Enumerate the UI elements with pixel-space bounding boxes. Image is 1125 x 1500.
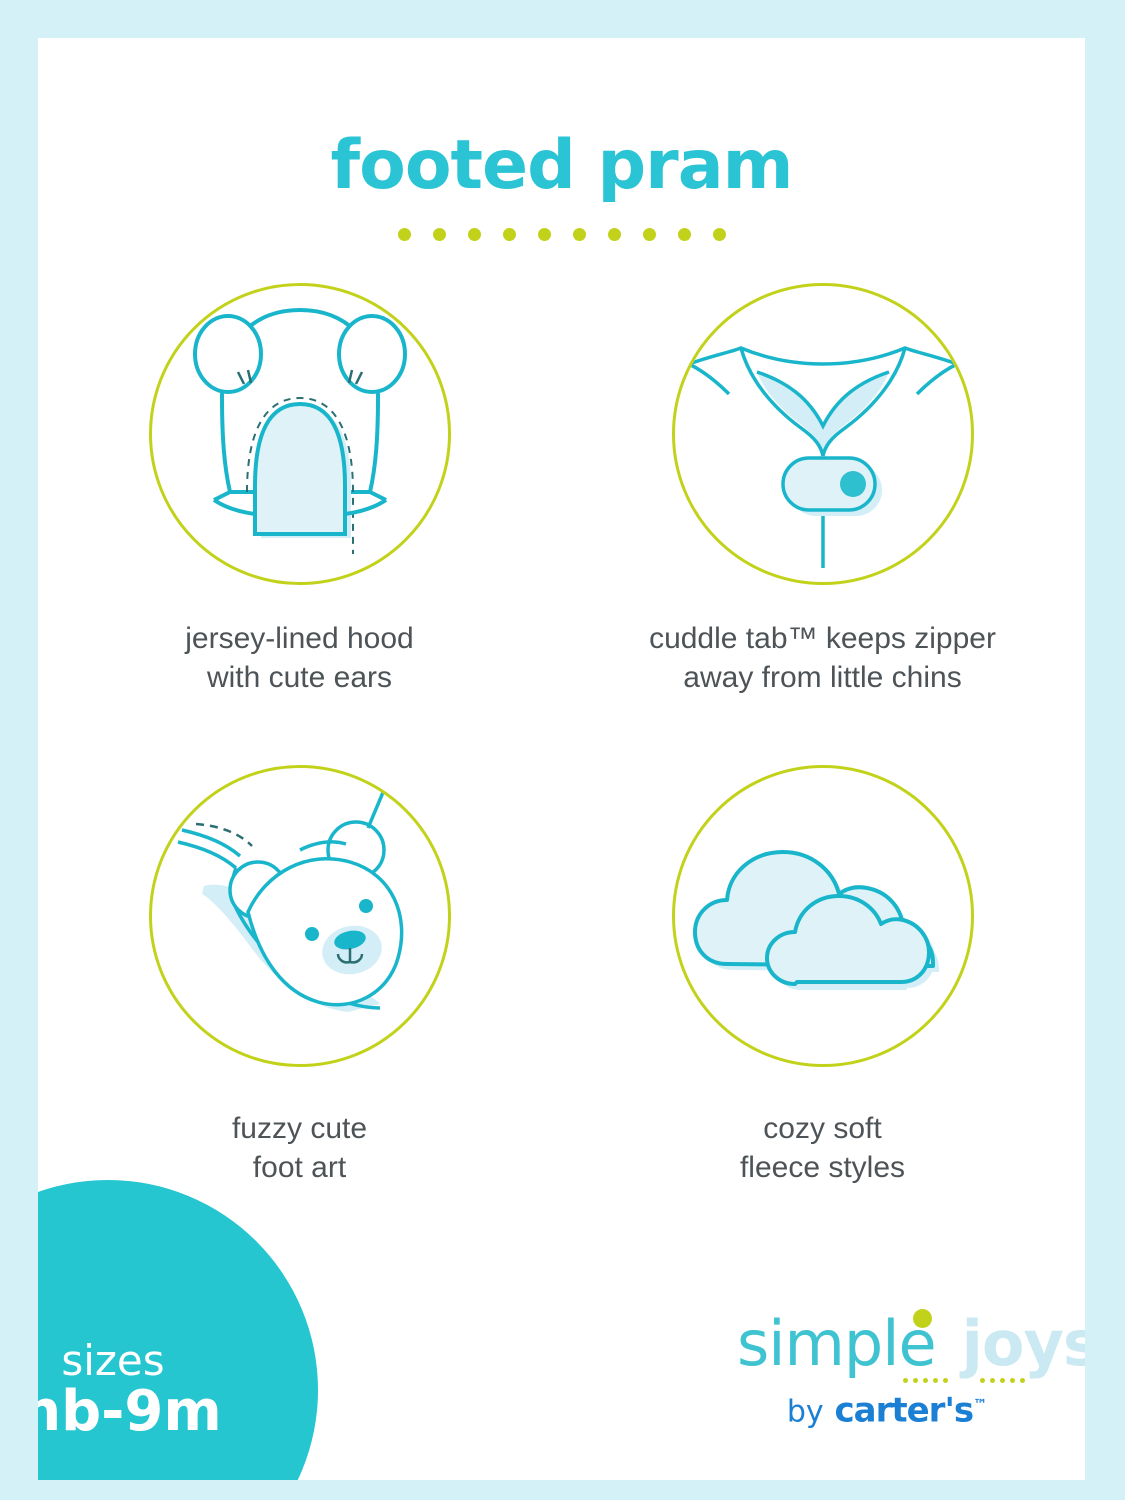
logo-joys-text: joys bbox=[962, 1307, 1085, 1380]
divider-dot bbox=[433, 228, 446, 241]
feature-item-fleece: cozy softfleece styles bbox=[561, 765, 1084, 1187]
feature-caption: jersey-lined hoodwith cute ears bbox=[185, 619, 413, 697]
size-badge-range: +nb-9m bbox=[38, 1383, 222, 1441]
divider-dot bbox=[468, 228, 481, 241]
divider-dot bbox=[608, 228, 621, 241]
feature-caption: fuzzy cutefoot art bbox=[232, 1109, 367, 1187]
logo-simple-text: simple bbox=[737, 1307, 936, 1380]
size-badge-content: sizes +nb-9m bbox=[38, 1180, 318, 1480]
clouds-icon bbox=[672, 765, 974, 1067]
feature-row-2: fuzzy cutefoot art cozy softfleece style… bbox=[38, 765, 1085, 1187]
feature-caption: cuddle tab™ keeps zipperaway from little… bbox=[649, 619, 996, 697]
logo-by-text: by bbox=[787, 1394, 824, 1429]
bear-ear-hood-icon bbox=[149, 283, 451, 585]
divider-dot bbox=[713, 228, 726, 241]
divider-dot bbox=[678, 228, 691, 241]
size-badge-range-value: nb-9m bbox=[38, 1379, 222, 1444]
logo-wordmark: simplejoys bbox=[737, 1313, 1037, 1375]
logo-j-dot-icon bbox=[913, 1309, 932, 1328]
feature-item-cuddle-tab: cuddle tab™ keeps zipperaway from little… bbox=[561, 283, 1084, 697]
brand-logo: simplejoys by carter's™ bbox=[737, 1313, 1037, 1430]
divider-dot bbox=[538, 228, 551, 241]
size-badge: sizes +nb-9m bbox=[38, 1180, 318, 1480]
bear-foot-art-icon bbox=[149, 765, 451, 1067]
logo-trademark: ™ bbox=[973, 1397, 987, 1413]
logo-brand-text: carter's bbox=[835, 1390, 974, 1430]
size-badge-label: sizes bbox=[61, 1339, 164, 1383]
cuddle-tab-collar-icon bbox=[672, 283, 974, 585]
page-title: footed pram bbox=[38, 126, 1085, 205]
divider-dot bbox=[503, 228, 516, 241]
divider-dot bbox=[398, 228, 411, 241]
divider-dot bbox=[573, 228, 586, 241]
feature-item-foot-art: fuzzy cutefoot art bbox=[38, 765, 561, 1187]
feature-grid: jersey-lined hoodwith cute ears bbox=[38, 283, 1085, 1187]
logo-dot bbox=[943, 1378, 948, 1383]
logo-subtitle: by carter's™ bbox=[737, 1387, 1037, 1430]
title-divider-dots bbox=[38, 228, 1085, 241]
feature-item-hood: jersey-lined hoodwith cute ears bbox=[38, 283, 561, 697]
feature-row-1: jersey-lined hoodwith cute ears bbox=[38, 283, 1085, 697]
product-info-card: footed pram bbox=[38, 38, 1085, 1480]
divider-dot bbox=[643, 228, 656, 241]
feature-caption: cozy softfleece styles bbox=[740, 1109, 905, 1187]
